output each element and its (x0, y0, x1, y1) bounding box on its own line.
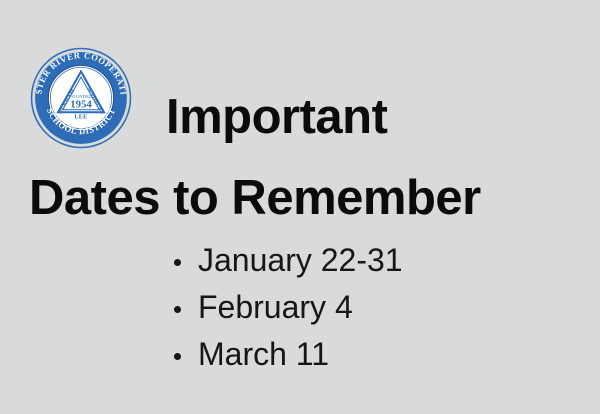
district-seal-logo: OYSTER RIVER COOPERATIVE SCHOOL DISTRICT… (30, 47, 132, 149)
page-title-line-2: Dates to Remember (29, 174, 481, 223)
list-item-label: March 11 (198, 336, 329, 372)
bullet-icon (174, 259, 181, 266)
bullet-icon (174, 306, 181, 313)
list-item: January 22-31 (172, 240, 403, 287)
svg-text:LEE: LEE (74, 114, 87, 120)
list-item: February 4 (172, 287, 403, 334)
svg-text:1954: 1954 (70, 99, 92, 111)
list-item-label: February 4 (198, 289, 353, 325)
bullet-icon (174, 353, 181, 360)
list-item-label: January 22-31 (198, 242, 403, 278)
page-title-line-1: Important (166, 93, 387, 142)
list-item: March 11 (172, 334, 403, 381)
important-dates-list: January 22-31 February 4 March 11 (172, 240, 403, 381)
slide-canvas: OYSTER RIVER COOPERATIVE SCHOOL DISTRICT… (0, 0, 600, 414)
